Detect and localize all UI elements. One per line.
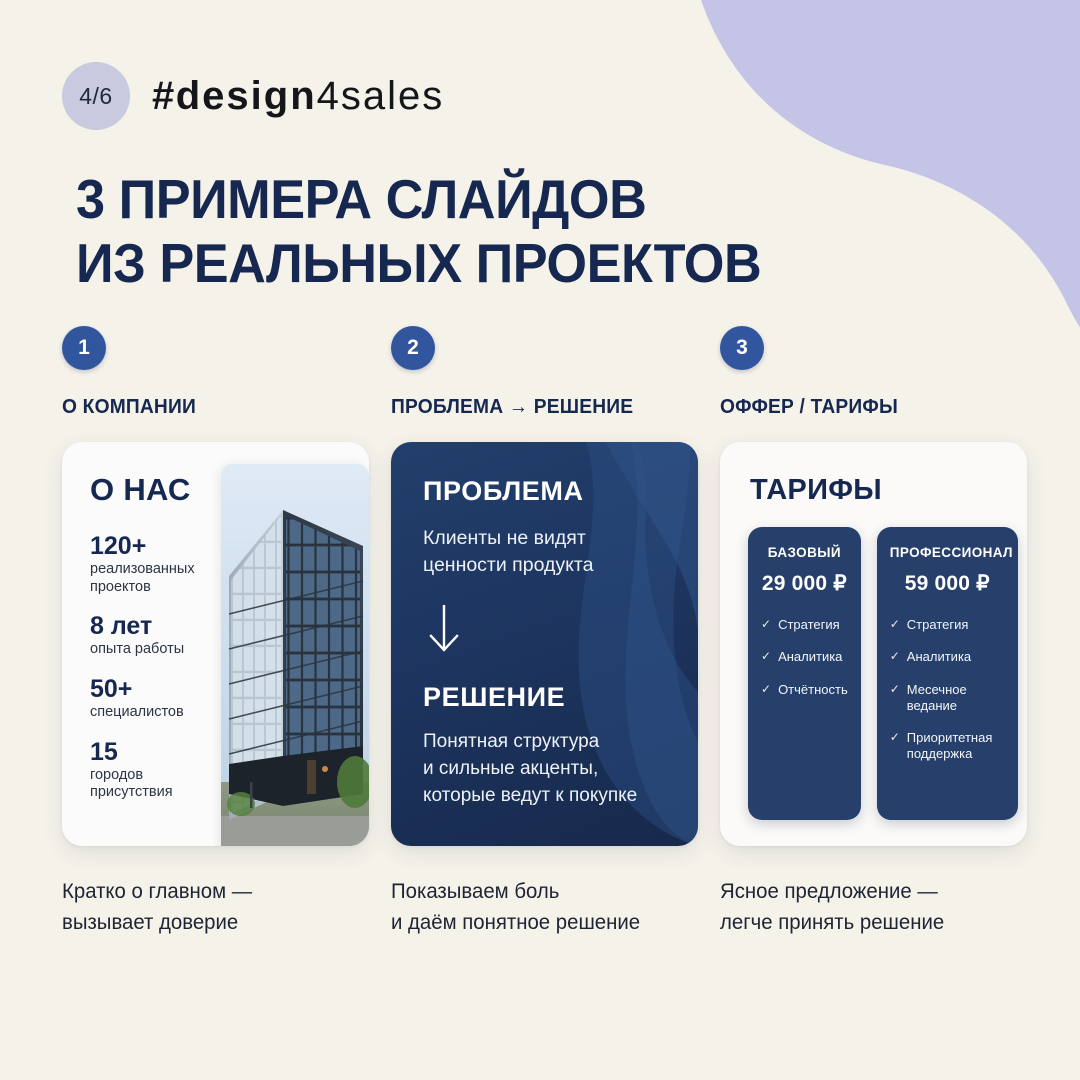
step-label-3: ОФФЕР / ТАРИФЫ: [720, 396, 1015, 419]
title-line-1: 3 ПРИМЕРА СЛАЙДОВ: [76, 168, 761, 232]
caption-line: легче принять решение: [720, 907, 1018, 938]
check-icon: ✓: [890, 617, 900, 633]
check-icon: ✓: [890, 649, 900, 665]
step-number-3: 3: [720, 326, 764, 370]
card-about-company: О НАС 120+ реализованных проектов 8 лет …: [62, 442, 369, 846]
tier-price: 59 000 ₽: [890, 571, 1005, 596]
card-pricing: ТАРИФЫ БАЗОВЫЙ 29 000 ₽ ✓ Стратегия ✓: [720, 442, 1027, 846]
caption-line: и даём понятное решение: [391, 907, 689, 938]
step-label-1: О КОМПАНИИ: [62, 396, 357, 419]
problem-text-line: Клиенты не видят: [423, 525, 672, 552]
feature-item: ✓ Отчётность: [761, 682, 848, 698]
check-icon: ✓: [890, 730, 900, 763]
feature-label: Аналитика: [778, 649, 842, 665]
step-label-2: ПРОБЛЕМА → РЕШЕНИЕ: [391, 396, 686, 419]
check-icon: ✓: [761, 649, 771, 665]
feature-item: ✓ Стратегия: [890, 617, 1005, 633]
feature-label: Аналитика: [907, 649, 971, 665]
problem-heading: ПРОБЛЕМА: [423, 476, 672, 507]
step-number-2: 2: [391, 326, 435, 370]
office-building-photo: [221, 464, 369, 846]
brand-hash: #: [152, 74, 176, 118]
caption-pricing: Ясное предложение — легче принять решени…: [720, 876, 1018, 938]
pricing-tier-basic[interactable]: БАЗОВЫЙ 29 000 ₽ ✓ Стратегия ✓ Аналитика: [748, 527, 861, 820]
tier-feature-list: ✓ Стратегия ✓ Аналитика ✓ Месечное ведан…: [890, 617, 1005, 763]
tier-name: ПРОФЕССИОНАЛ: [890, 545, 1005, 560]
card-problem-solution: ПРОБЛЕМА Клиенты не видят ценности проду…: [391, 442, 698, 846]
problem-text-line: ценности продукта: [423, 552, 672, 579]
solution-heading: РЕШЕНИЕ: [423, 682, 672, 713]
solution-text-line: Понятная структура: [423, 729, 672, 756]
problem-solution-content: ПРОБЛЕМА Клиенты не видят ценности проду…: [423, 476, 672, 810]
pricing-tier-professional[interactable]: ПРОФЕССИОНАЛ 59 000 ₽ ✓ Стратегия ✓ Анал…: [877, 527, 1018, 820]
feature-label: Приоритетная поддержка: [907, 730, 1005, 763]
brand-bold: design: [176, 74, 317, 118]
page-title: 3 ПРИМЕРА СЛАЙДОВ ИЗ РЕАЛЬНЫХ ПРОЕКТОВ: [76, 168, 761, 296]
problem-text: Клиенты не видят ценности продукта: [423, 525, 672, 579]
caption-line: вызывает доверие: [62, 907, 360, 938]
check-icon: ✓: [761, 682, 771, 698]
caption-line: Кратко о главном —: [62, 876, 360, 907]
step-number-1: 1: [62, 326, 106, 370]
feature-item: ✓ Приоритетная поддержка: [890, 730, 1005, 763]
feature-item: ✓ Аналитика: [761, 649, 848, 665]
tier-feature-list: ✓ Стратегия ✓ Аналитика ✓ Отчётность: [761, 617, 848, 698]
solution-text-line: которые ведут к покупке: [423, 783, 672, 810]
solution-text-line: и сильные акценты,: [423, 756, 672, 783]
pricing-tiers: БАЗОВЫЙ 29 000 ₽ ✓ Стратегия ✓ Аналитика: [748, 527, 1007, 820]
solution-text: Понятная структура и сильные акценты, ко…: [423, 729, 672, 810]
feature-item: ✓ Стратегия: [761, 617, 848, 633]
slide-counter-badge: 4/6: [62, 62, 130, 130]
feature-label: Стратегия: [778, 617, 840, 633]
page-header: 4/6 #design4sales: [62, 62, 444, 130]
brand-logo: #design4sales: [152, 74, 444, 119]
check-icon: ✓: [761, 617, 771, 633]
tier-price: 29 000 ₽: [761, 571, 848, 596]
caption-about: Кратко о главном — вызывает доверие: [62, 876, 360, 938]
check-icon: ✓: [890, 682, 900, 715]
feature-label: Стратегия: [907, 617, 969, 633]
pricing-heading: ТАРИФЫ: [750, 474, 882, 507]
brand-light: 4sales: [317, 74, 445, 118]
caption-line: Показываем боль: [391, 876, 689, 907]
feature-item: ✓ Аналитика: [890, 649, 1005, 665]
title-line-2: ИЗ РЕАЛЬНЫХ ПРОЕКТОВ: [76, 232, 761, 296]
caption-problem: Показываем боль и даём понятное решение: [391, 876, 689, 938]
feature-label: Месечное ведание: [907, 682, 1005, 715]
feature-item: ✓ Месечное ведание: [890, 682, 1005, 715]
columns-row: 1 О КОМПАНИИ О НАС 120+ реализованных пр…: [62, 326, 1028, 938]
arrow-down-glyph: [427, 603, 461, 657]
feature-label: Отчётность: [778, 682, 848, 698]
tier-name: БАЗОВЫЙ: [761, 545, 848, 560]
caption-line: Ясное предложение —: [720, 876, 1018, 907]
column-offer-pricing: 3 ОФФЕР / ТАРИФЫ ТАРИФЫ БАЗОВЫЙ 29 000 ₽…: [720, 326, 1027, 938]
column-problem-solution: 2 ПРОБЛЕМА → РЕШЕНИЕ ПРОБЛЕМА Клиенты не…: [391, 326, 698, 938]
slide-canvas: 4/6 #design4sales 3 ПРИМЕРА СЛАЙДОВ ИЗ Р…: [0, 0, 1080, 1080]
down-arrow-icon: [427, 603, 672, 662]
column-about: 1 О КОМПАНИИ О НАС 120+ реализованных пр…: [62, 326, 369, 938]
